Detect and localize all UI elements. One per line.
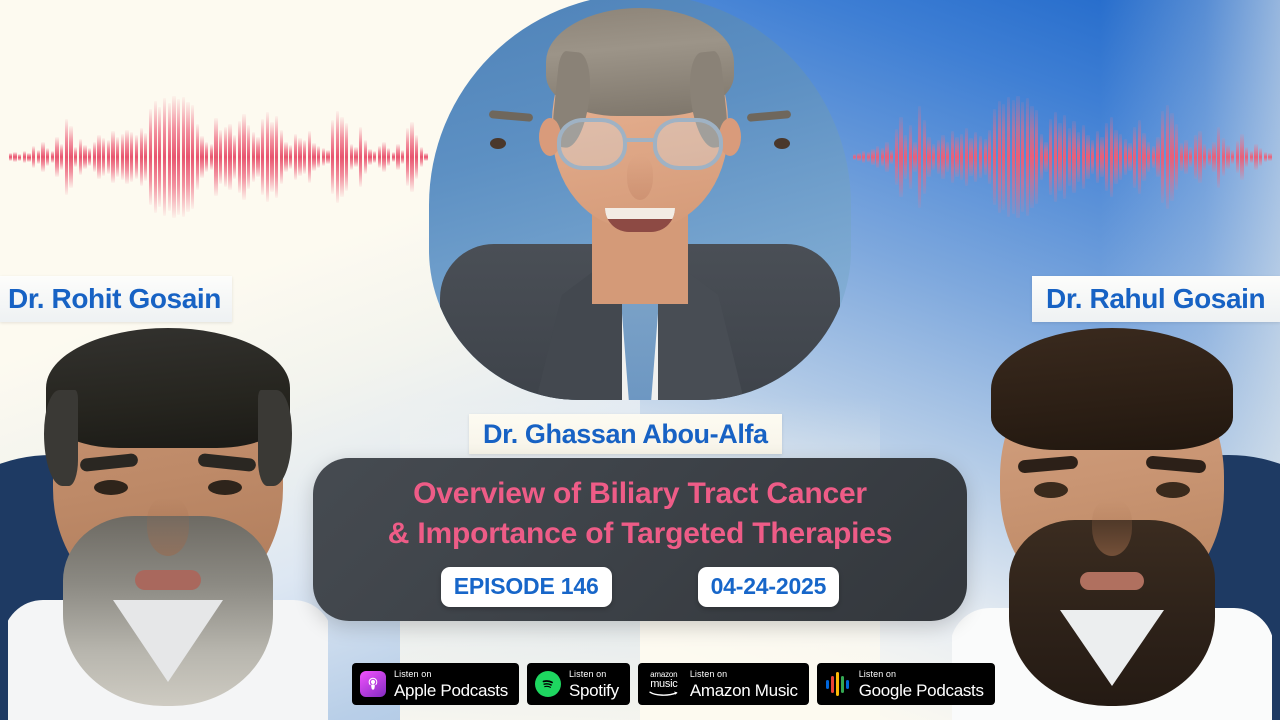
waveform-bar — [890, 150, 893, 164]
spotify-listen-on: Listen on — [569, 670, 619, 679]
waveform-bar — [387, 148, 390, 166]
waveform-bar — [1170, 113, 1173, 200]
waveform-bar — [205, 142, 208, 172]
waveform-bar — [1035, 110, 1038, 204]
waveform-bar — [340, 117, 343, 197]
waveform-bar — [1100, 137, 1103, 178]
waveform-bar — [998, 101, 1001, 213]
waveform-bar — [83, 145, 86, 169]
waveform-bar — [1058, 123, 1061, 190]
amazon-music-label: Listen on Amazon Music — [690, 670, 798, 699]
waveform-bar — [298, 138, 301, 176]
waveform-bar — [345, 123, 348, 191]
host-photo-left — [8, 320, 328, 720]
waveform-bar — [1026, 98, 1029, 216]
waveform-bar — [140, 128, 143, 186]
episode-date-badge: 04-24-2025 — [698, 567, 840, 607]
google-podcasts-badge[interactable]: Listen on Google Podcasts — [817, 663, 995, 705]
google-podcasts-icon — [825, 672, 851, 696]
waveform-bar — [1245, 147, 1248, 167]
guest-glasses-bridge — [625, 138, 655, 142]
waveform-bar — [932, 144, 935, 170]
waveform-bar — [937, 140, 940, 175]
waveform-bar — [862, 151, 865, 163]
waveform-bar — [23, 151, 26, 163]
guest-lens-right — [653, 118, 723, 170]
host-right-hair — [991, 328, 1233, 450]
waveform-bar — [974, 132, 977, 183]
waveform-bar — [55, 137, 58, 177]
waveform-bar — [93, 142, 96, 172]
waveform-bar — [853, 154, 856, 160]
waveform-bar — [88, 148, 91, 166]
waveform-bar — [186, 102, 189, 212]
waveform-bar — [969, 138, 972, 177]
waveform-bar — [294, 134, 297, 180]
apple-podcasts-name: Apple Podcasts — [394, 682, 508, 699]
google-podcasts-listen-on: Listen on — [859, 670, 984, 679]
waveform-bar — [1072, 121, 1075, 192]
waveform-bar — [1030, 106, 1033, 208]
waveform-bar — [1110, 117, 1113, 196]
google-podcasts-label: Listen on Google Podcasts — [859, 670, 984, 699]
waveform-bar — [881, 148, 884, 166]
waveform-bar — [9, 153, 12, 161]
waveform-bar — [1194, 135, 1197, 180]
waveform-bar — [401, 150, 404, 164]
waveform-bar — [857, 153, 860, 161]
waveform-bar — [196, 124, 199, 190]
waveform-bar — [895, 129, 898, 186]
amazon-music-badge[interactable]: amazon music Listen on Amazon Music — [638, 663, 809, 705]
waveform-bar — [368, 149, 371, 165]
waveform-bar — [163, 98, 166, 216]
audio-waveform-left — [8, 96, 428, 218]
waveform-bar — [955, 137, 958, 178]
waveform-bar — [918, 106, 921, 208]
waveform-bar — [79, 139, 82, 175]
waveform-bar — [125, 130, 128, 184]
waveform-bar — [979, 136, 982, 179]
waveform-bar — [266, 112, 269, 202]
waveform-bar — [1217, 127, 1220, 188]
guest-teeth — [605, 208, 675, 219]
waveform-bar — [1203, 144, 1206, 170]
guest-eye-left — [774, 138, 790, 149]
waveform-bar — [1096, 131, 1099, 184]
waveform-bar — [946, 142, 949, 173]
waveform-bar — [984, 139, 987, 176]
apple-podcasts-listen-on: Listen on — [394, 670, 508, 679]
waveform-bar — [69, 126, 72, 188]
waveform-bar — [102, 138, 105, 176]
waveform-bar — [1068, 128, 1071, 187]
waveform-bar — [191, 105, 194, 209]
waveform-bar — [1231, 150, 1234, 164]
waveform-bar — [359, 127, 362, 187]
waveform-bar — [1044, 142, 1047, 173]
waveform-bar — [951, 131, 954, 184]
waveform-bar — [899, 117, 902, 196]
waveform-bar — [867, 152, 870, 162]
waveform-bar — [1105, 123, 1108, 190]
waveform-bar — [32, 146, 35, 168]
waveform-bar — [904, 135, 907, 180]
waveform-bar — [252, 132, 255, 182]
episode-meta-row: EPISODE 146 04-24-2025 — [441, 567, 839, 607]
waveform-bar — [406, 128, 409, 186]
waveform-bar — [228, 124, 231, 190]
host-left-hair-side-right — [258, 390, 292, 486]
spotify-label: Listen on Spotify — [569, 670, 619, 699]
host-right-eye-right — [1156, 482, 1190, 498]
episode-title-card: Overview of Biliary Tract Cancer & Impor… — [313, 458, 967, 621]
waveform-bar — [322, 148, 325, 166]
waveform-bar — [1254, 144, 1257, 170]
amazon-music-name: Amazon Music — [690, 682, 798, 699]
waveform-bar — [210, 144, 213, 170]
waveform-bar — [116, 137, 119, 177]
waveform-bar — [37, 150, 40, 164]
waveform-bar — [415, 135, 418, 179]
waveform-bar — [988, 130, 991, 185]
waveform-bar — [350, 144, 353, 170]
waveform-bar — [219, 130, 222, 184]
waveform-bar — [1198, 131, 1201, 184]
waveform-bar — [909, 125, 912, 188]
waveform-bar — [275, 116, 278, 198]
guest-eyebrow-right — [489, 110, 534, 122]
waveform-bar — [1114, 130, 1117, 185]
guest-eyebrow-left — [747, 110, 792, 122]
waveform-bar — [1212, 142, 1215, 173]
host-photo-right — [952, 320, 1272, 720]
waveform-bar — [1077, 132, 1080, 183]
waveform-bar — [1063, 115, 1066, 198]
waveform-bar — [149, 109, 152, 205]
waveform-bar — [1142, 133, 1145, 182]
host-left-lips — [135, 570, 201, 590]
waveform-bar — [107, 140, 110, 174]
waveform-bar — [1007, 97, 1010, 217]
waveform-bar — [1226, 145, 1229, 169]
waveform-bar — [60, 144, 63, 170]
episode-title-line-1: Overview of Biliary Tract Cancer — [413, 474, 867, 514]
waveform-bar — [214, 118, 217, 196]
waveform-bar — [1208, 148, 1211, 166]
waveform-bar — [1268, 153, 1271, 161]
waveform-bar — [1133, 127, 1136, 188]
spotify-badge[interactable]: Listen on Spotify — [527, 663, 630, 705]
host-left-hair — [46, 328, 290, 448]
waveform-bar — [154, 101, 157, 213]
waveform-bar — [256, 137, 259, 177]
waveform-bar — [336, 111, 339, 203]
waveform-bar — [130, 132, 133, 182]
waveform-bar — [135, 135, 138, 179]
waveform-bar — [392, 152, 395, 162]
waveform-bar — [913, 142, 916, 173]
waveform-bar — [1002, 104, 1005, 210]
waveform-bar — [1259, 148, 1262, 166]
waveform-bar — [65, 119, 68, 195]
waveform-bar — [41, 142, 44, 172]
guest-nose — [627, 156, 653, 200]
waveform-bar — [172, 96, 175, 218]
waveform-bar — [965, 128, 968, 187]
waveform-bar — [303, 140, 306, 174]
waveform-bar — [378, 146, 381, 168]
waveform-bar — [1184, 140, 1187, 175]
waveform-bar — [396, 144, 399, 170]
amazon-music-listen-on: Listen on — [690, 670, 798, 679]
waveform-bar — [373, 151, 376, 163]
waveform-bar — [144, 133, 147, 181]
audio-waveform-right — [852, 96, 1272, 218]
amazon-smile-icon — [649, 690, 679, 697]
waveform-bar — [317, 146, 320, 168]
waveform-bar — [1166, 105, 1169, 209]
waveform-bar — [1264, 152, 1267, 162]
host-left-hair-side-left — [44, 390, 78, 486]
apple-podcasts-label: Listen on Apple Podcasts — [394, 670, 508, 699]
episode-number-badge: EPISODE 146 — [441, 567, 612, 607]
waveform-bar — [326, 150, 329, 164]
waveform-bar — [1016, 96, 1019, 218]
waveform-bar — [233, 135, 236, 179]
waveform-bar — [13, 152, 16, 162]
waveform-bar — [46, 148, 49, 166]
waveform-bar — [284, 142, 287, 172]
host-left-eye-left — [94, 480, 128, 495]
waveform-bar — [1161, 111, 1164, 203]
waveform-bar — [1180, 143, 1183, 171]
waveform-bar — [121, 134, 124, 180]
waveform-bar — [308, 131, 311, 183]
waveform-bar — [382, 142, 385, 172]
waveform-bar — [1091, 140, 1094, 175]
waveform-bar — [289, 145, 292, 169]
waveform-bar — [876, 146, 879, 168]
episode-title-line-2: & Importance of Targeted Therapies — [388, 514, 892, 554]
guest-eye-right — [490, 138, 506, 149]
waveform-bar — [1189, 147, 1192, 167]
waveform-bar — [261, 119, 264, 195]
waveform-bar — [1054, 112, 1057, 201]
waveform-bar — [111, 131, 114, 183]
waveform-bar — [270, 122, 273, 192]
waveform-bar — [97, 135, 100, 179]
waveform-bar — [1128, 143, 1131, 171]
guest-portrait — [429, 0, 851, 400]
host-left-eye-right — [208, 480, 242, 495]
waveform-bar — [1240, 134, 1243, 181]
waveform-bar — [871, 149, 874, 165]
apple-podcasts-icon — [360, 671, 386, 697]
waveform-bar — [1119, 134, 1122, 181]
waveform-bar — [941, 135, 944, 180]
waveform-bar — [1040, 134, 1043, 181]
waveform-bar — [1156, 137, 1159, 178]
waveform-bar — [1250, 151, 1253, 163]
waveform-bar — [238, 121, 241, 193]
waveform-bar — [224, 127, 227, 187]
waveform-bar — [177, 99, 180, 215]
waveform-bar — [410, 122, 413, 192]
waveform-bar — [993, 109, 996, 205]
waveform-bar — [158, 107, 161, 207]
waveform-bar — [1152, 146, 1155, 168]
waveform-bar — [960, 134, 963, 181]
waveform-bar — [74, 147, 77, 167]
amazon-wordmark-bottom: music — [650, 679, 677, 690]
host-right-nose — [1092, 500, 1132, 556]
spotify-name: Spotify — [569, 682, 619, 699]
waveform-bar — [1082, 125, 1085, 188]
waveform-bar — [1147, 142, 1150, 173]
waveform-bar — [1049, 119, 1052, 194]
waveform-bar — [200, 136, 203, 178]
host-left-nose — [147, 498, 189, 556]
waveform-bar — [1086, 135, 1089, 180]
apple-podcasts-badge[interactable]: Listen on Apple Podcasts — [352, 663, 519, 705]
waveform-bar — [168, 103, 171, 211]
waveform-bar — [51, 151, 54, 163]
spotify-icon — [535, 671, 561, 697]
waveform-bar — [1124, 139, 1127, 176]
waveform-bar — [1175, 124, 1178, 189]
waveform-bar — [927, 137, 930, 178]
waveform-bar — [182, 97, 185, 217]
waveform-bar — [1021, 102, 1024, 212]
waveform-bar — [923, 120, 926, 193]
podcast-thumbnail: Dr. Rohit Gosain Dr. Rahul Gosain Dr. Gh… — [0, 0, 1280, 720]
guest-lens-left — [557, 118, 627, 170]
waveform-bar — [1236, 141, 1239, 174]
waveform-bar — [420, 147, 423, 167]
waveform-bar — [885, 142, 888, 173]
waveform-bar — [1222, 138, 1225, 177]
guest-photo-frame — [429, 0, 851, 400]
amazon-music-icon: amazon music — [646, 671, 682, 697]
host-name-label-right: Dr. Rahul Gosain — [1032, 276, 1280, 322]
host-right-eye-left — [1034, 482, 1068, 498]
waveform-bar — [1138, 120, 1141, 193]
waveform-bar — [424, 153, 427, 161]
waveform-bar — [312, 143, 315, 171]
guest-name-label: Dr. Ghassan Abou-Alfa — [469, 414, 782, 454]
host-right-lips — [1080, 572, 1144, 590]
listen-platform-badges: Listen on Apple Podcasts Listen on Spoti… — [352, 663, 995, 705]
waveform-bar — [331, 120, 334, 194]
google-podcasts-name: Google Podcasts — [859, 682, 984, 699]
waveform-bar — [242, 114, 245, 200]
waveform-bar — [247, 125, 250, 189]
waveform-bar — [280, 130, 283, 184]
waveform-bar — [354, 147, 357, 167]
waveform-bar — [364, 140, 367, 174]
waveform-bar — [18, 154, 21, 161]
waveform-bar — [27, 153, 30, 162]
waveform-bar — [1012, 100, 1015, 214]
host-name-label-left: Dr. Rohit Gosain — [0, 276, 232, 322]
